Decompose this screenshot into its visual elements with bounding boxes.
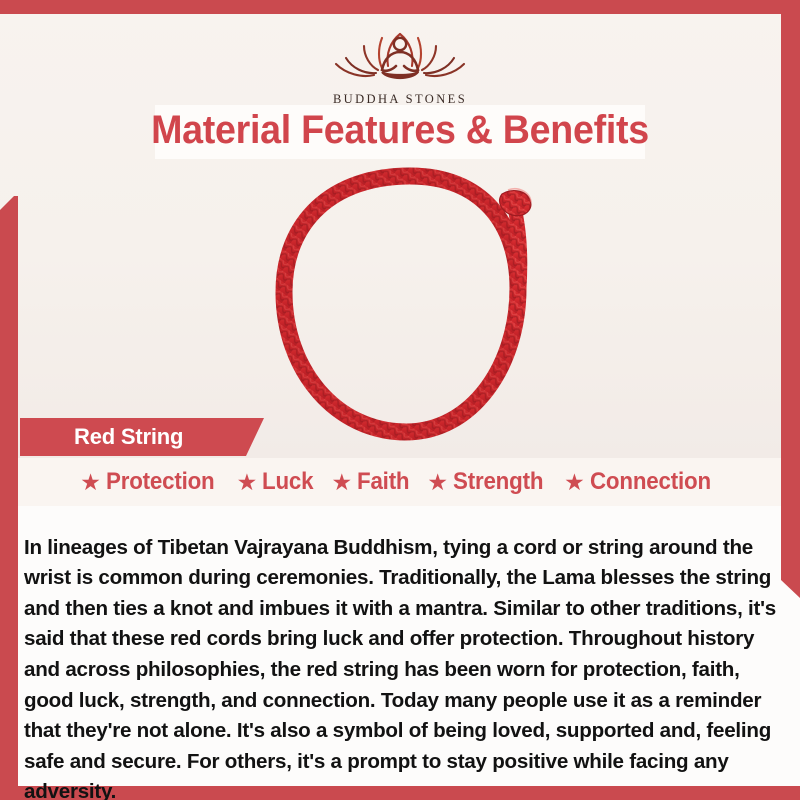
brand-logo: BUDDHA STONES	[0, 18, 800, 107]
top-red-bar	[0, 0, 800, 14]
lotus-meditation-icon	[320, 18, 480, 90]
star-icon: ★	[80, 471, 101, 494]
star-icon: ★	[237, 471, 258, 494]
benefit-label: Protection	[106, 468, 215, 496]
benefit-label: Strength	[453, 468, 543, 496]
benefit-label: Faith	[357, 468, 409, 496]
star-icon: ★	[564, 471, 585, 494]
benefit-item: ★ Luck	[237, 468, 318, 496]
star-icon: ★	[427, 471, 448, 494]
benefit-label: Connection	[590, 468, 711, 496]
description-paragraph: In lineages of Tibetan Vajrayana Buddhis…	[24, 533, 776, 800]
benefit-item: ★ Connection	[564, 468, 720, 496]
benefit-item: ★ Strength	[427, 468, 550, 496]
red-string-bracelet-image	[250, 160, 570, 445]
benefit-item: ★ Protection	[80, 468, 222, 496]
product-label-text: Red String	[74, 424, 183, 450]
star-icon: ★	[331, 471, 352, 494]
infographic-poster: BUDDHA STONES Material Features & Benefi…	[0, 0, 800, 800]
benefits-row: ★ Protection ★ Luck ★ Faith ★ Strength ★…	[0, 468, 800, 496]
page-title: Material Features & Benefits	[24, 108, 776, 153]
benefit-label: Luck	[262, 468, 313, 496]
benefit-item: ★ Faith	[331, 468, 413, 496]
